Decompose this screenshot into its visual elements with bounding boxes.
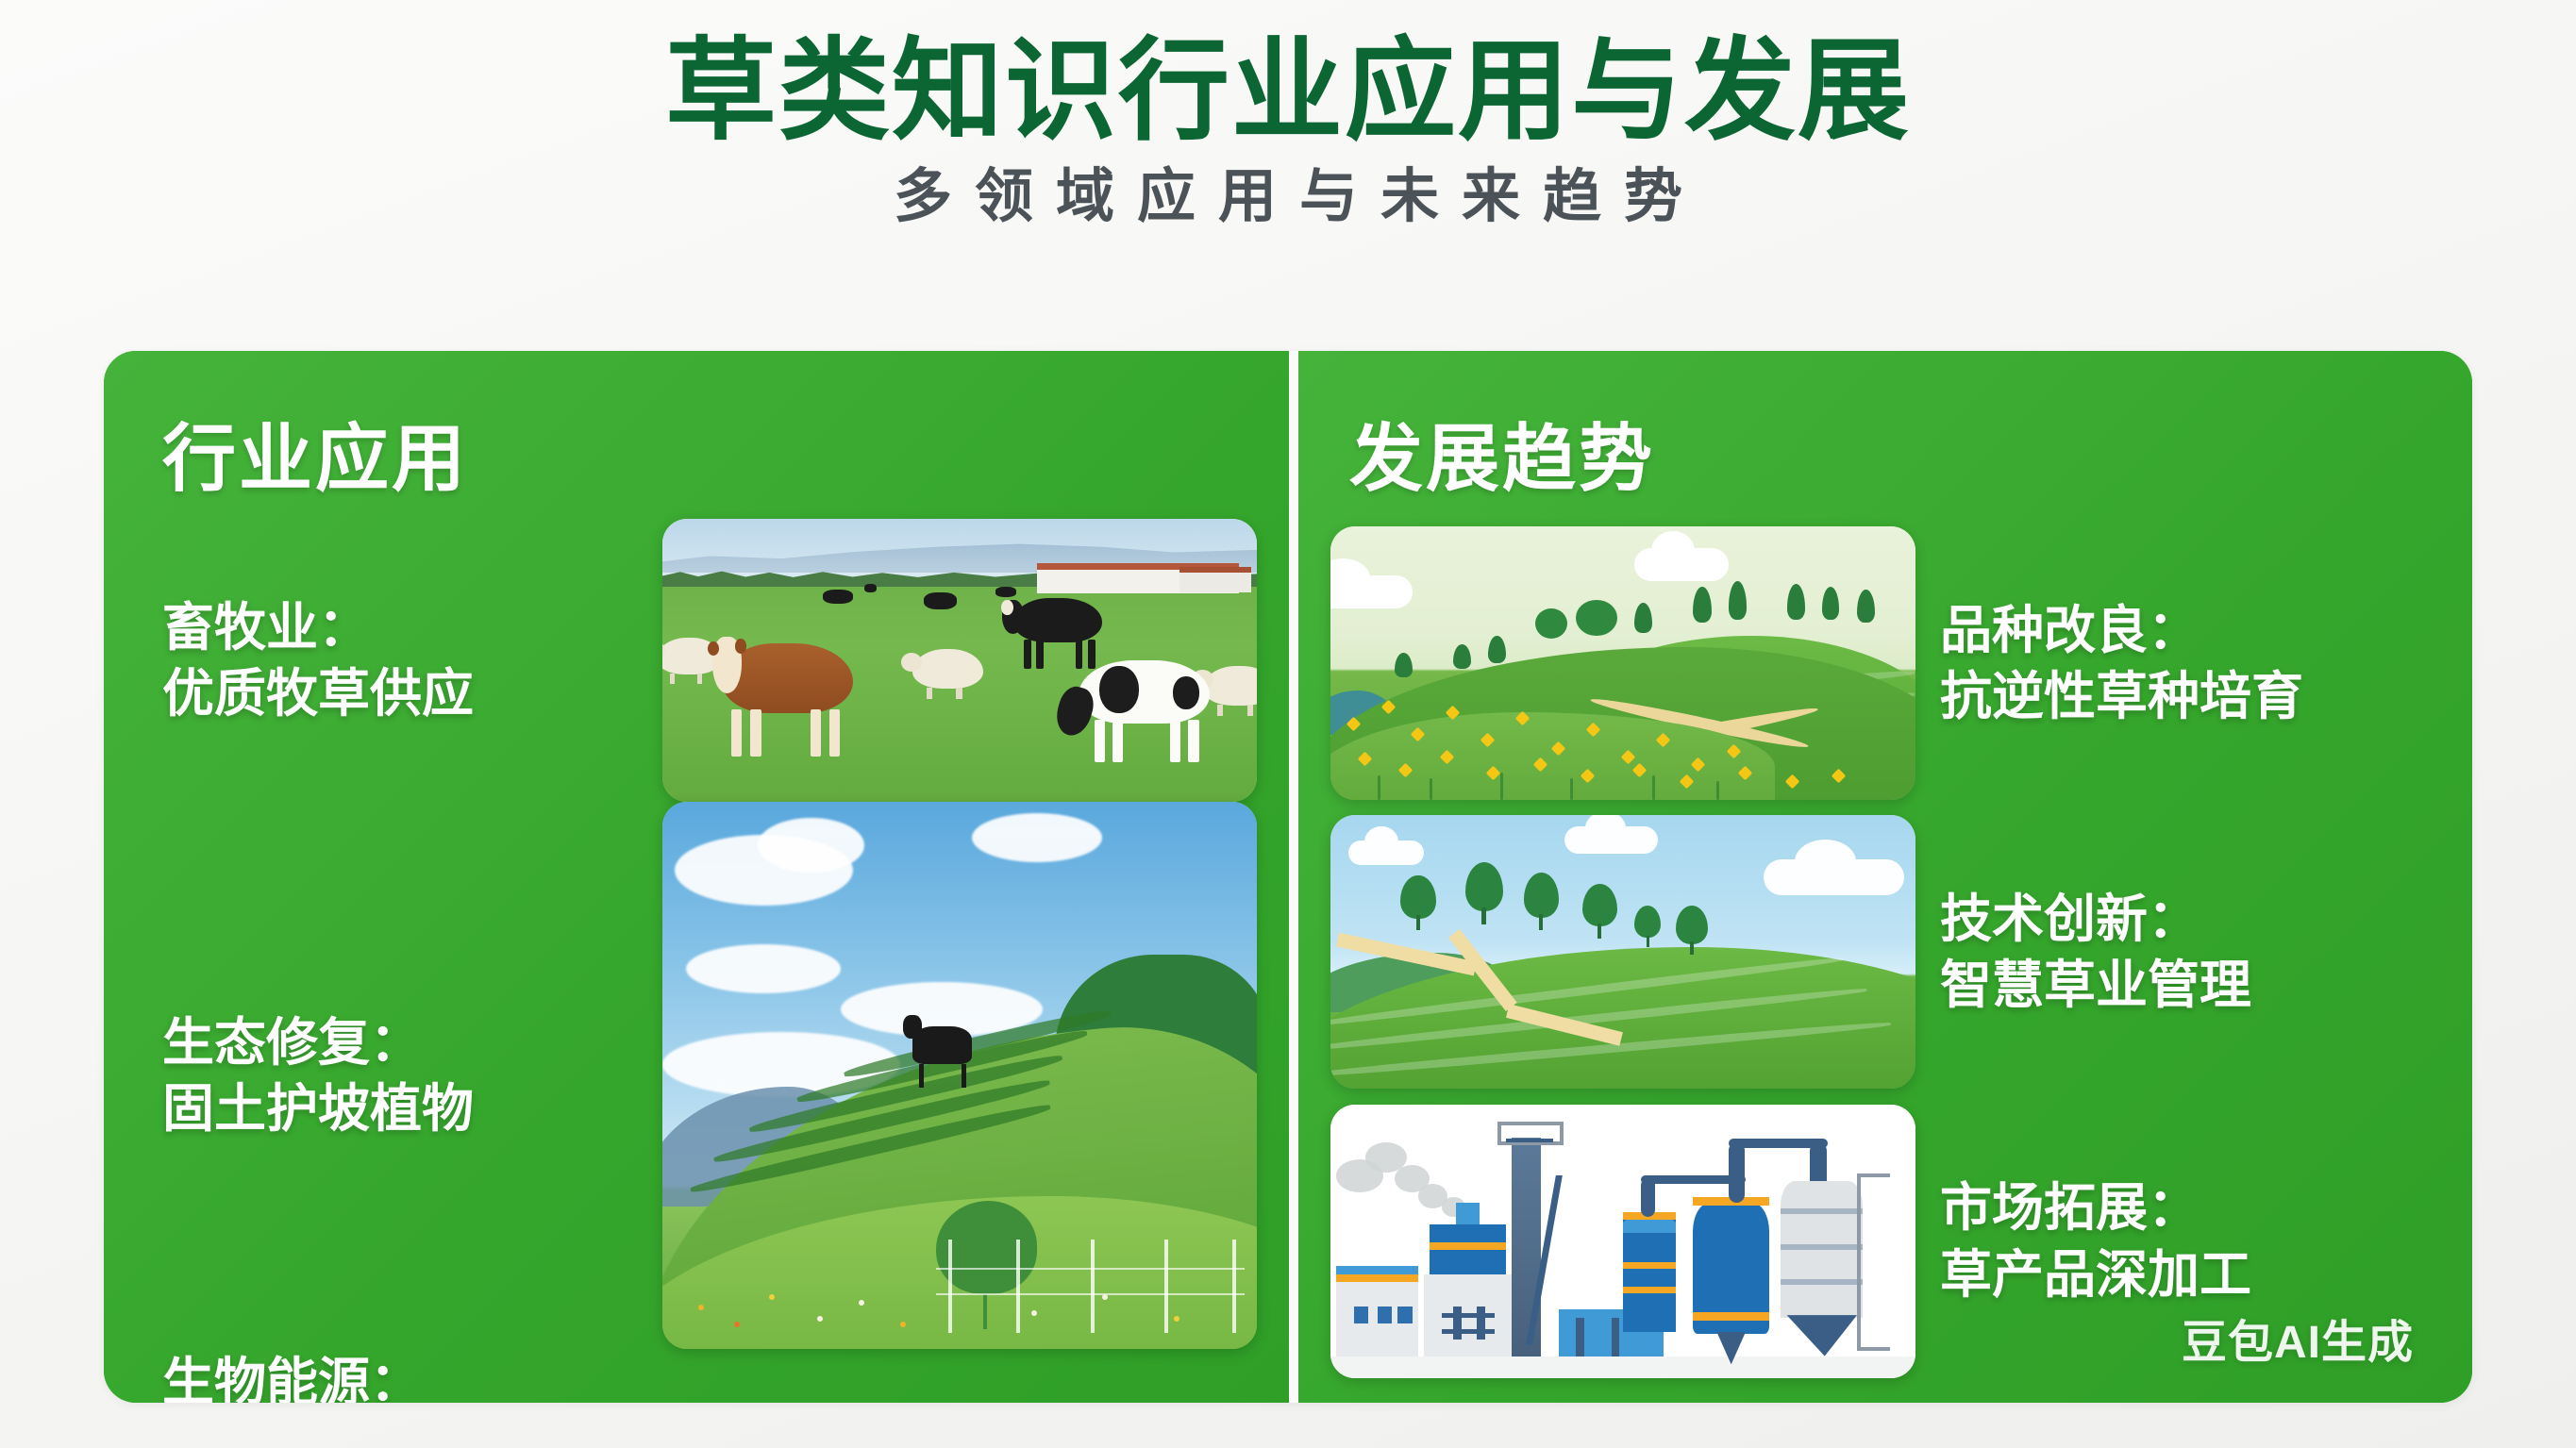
content-panels: 行业应用 畜牧业： 优质牧草供应	[104, 351, 2472, 1403]
list-item-detail: 固土护坡植物	[162, 1075, 638, 1141]
panel-industry-applications: 行业应用 畜牧业： 优质牧草供应	[104, 351, 1289, 1403]
panel-right-rows: 品种改良： 抗逆性草种培育	[1298, 519, 2472, 1386]
list-item-text: 生态修复： 固土护坡植物	[162, 1009, 638, 1142]
illustrated-industrial-processing-plant	[1330, 1105, 1915, 1378]
list-item-label: 技术创新：	[1940, 890, 2200, 948]
list-item-detail: 优质牧草供应	[162, 660, 638, 726]
list-item-text: 生物能源： 草本燃料开发	[162, 1349, 646, 1403]
list-item-label: 生物能源：	[162, 1353, 422, 1403]
panel-left-heading: 行业应用	[162, 400, 468, 506]
page-subtitle: 多领域应用与未来趋势	[0, 165, 2576, 229]
list-item-detail: 抗逆性草种培育	[1940, 663, 2421, 729]
panel-divider	[1289, 351, 1298, 1403]
illustrated-rolling-hills-with-path	[1330, 815, 1915, 1089]
list-item-label: 市场拓展：	[1940, 1178, 2200, 1237]
list-item-label: 生态修复：	[162, 1013, 422, 1072]
list-item-text: 技术创新： 智慧草业管理	[1940, 886, 2421, 1019]
infographic-page: 草类知识行业应用与发展 多领域应用与未来趋势 行业应用 畜牧业： 优质牧草供应	[0, 0, 2576, 1448]
panel-left-rows: 畜牧业： 优质牧草供应	[104, 519, 1289, 1386]
terraced-green-hillside-with-cow-photo	[662, 802, 1257, 1349]
pasture-grazing-cattle-sheep-photo	[662, 519, 1257, 802]
list-item-label: 品种改良：	[1940, 601, 2200, 659]
illustrated-fields-with-yellow-flowers	[1330, 526, 1915, 800]
panel-development-trends: 发展趋势	[1298, 351, 2472, 1403]
list-item-detail: 智慧草业管理	[1940, 952, 2421, 1018]
list-item-detail: 草产品深加工	[1940, 1241, 2421, 1307]
list-item[interactable]: 畜牧业： 优质牧草供应	[104, 519, 1289, 802]
list-item-label: 畜牧业：	[162, 598, 370, 657]
header: 草类知识行业应用与发展 多领域应用与未来趋势	[0, 0, 2576, 230]
list-item[interactable]: 品种改良： 抗逆性草种培育	[1298, 519, 2472, 807]
panel-right-heading: 发展趋势	[1349, 400, 1655, 506]
list-item-text: 畜牧业： 优质牧草供应	[162, 594, 638, 727]
list-item[interactable]: 市场拓展： 草产品深加工	[1298, 1097, 2472, 1386]
list-item[interactable]: 生物能源： 草本燃料开发	[104, 1349, 1289, 1403]
page-title: 草类知识行业应用与发展	[0, 32, 2576, 152]
list-item[interactable]: 生态修复： 固土护坡植物	[104, 802, 1289, 1349]
list-item-text: 市场拓展： 草产品深加工	[1940, 1174, 2421, 1307]
list-item[interactable]: 技术创新： 智慧草业管理	[1298, 807, 2472, 1096]
list-item-text: 品种改良： 抗逆性草种培育	[1940, 597, 2421, 730]
